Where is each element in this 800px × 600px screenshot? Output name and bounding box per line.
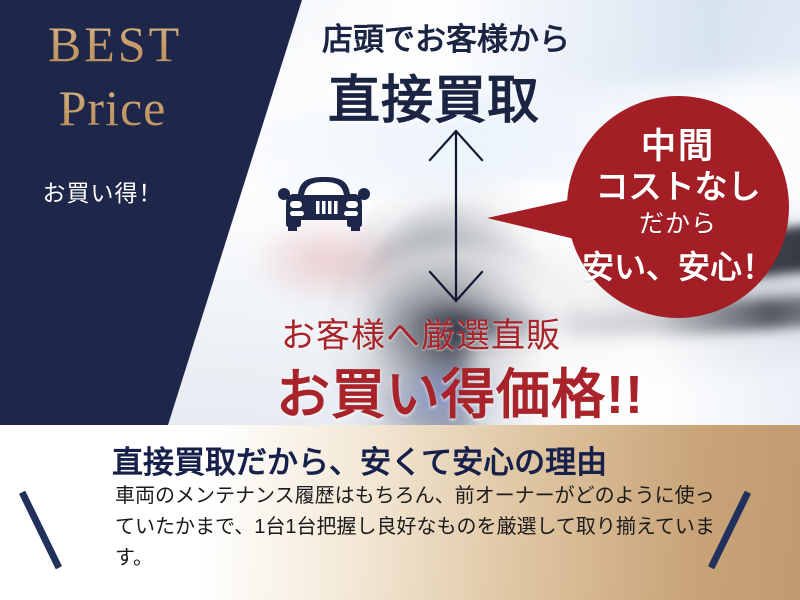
lower-headline-large: お買い得価格!! (276, 350, 644, 429)
best-price-line2: Price (0, 82, 225, 135)
car-front-icon (276, 168, 372, 240)
best-price-line1: BEST (0, 18, 230, 71)
navy-panel-subtitle: お買い得！ (0, 174, 205, 208)
promotional-banner: BEST Price お買い得！ 店頭でお客様から 直接買取 (0, 0, 800, 600)
top-headline-large: 直接買取 (328, 58, 540, 133)
double-arrow-vertical-icon (424, 128, 488, 304)
bottom-section-title: 直接買取だから、安くて安心の理由 (112, 437, 607, 482)
bottom-info-section: 直接買取だから、安くて安心の理由 車両のメンテナンス履歴はもちろん、前オーナーが… (0, 425, 800, 600)
bubble-line-3: だから (567, 204, 789, 240)
bubble-line-2: コストなし (567, 160, 789, 208)
top-headline-small: 店頭でお客様から (322, 14, 570, 59)
red-speech-bubble: 中間 コストなし だから 安い、安心！ (567, 96, 789, 318)
bubble-line-4: 安い、安心！ (567, 242, 789, 288)
bottom-section-body: 車両のメンテナンス履歴はもちろん、前オーナーがどのように使っていたかまで、1台1… (115, 481, 715, 574)
decorative-slash-left (19, 491, 62, 570)
